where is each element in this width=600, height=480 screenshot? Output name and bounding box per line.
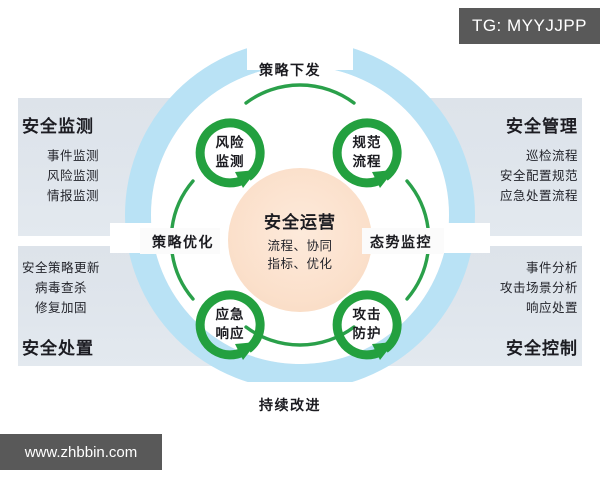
process-label-line-1: 攻击	[353, 306, 382, 325]
quadrant-item: 安全配置规范	[500, 166, 578, 186]
cardinal-label-bottom: 持续改进	[259, 395, 321, 415]
process-node-label: 攻击 防护	[324, 282, 410, 368]
cardinal-label-top: 策略下发	[259, 60, 321, 80]
center-subtitle-line-1: 流程、协同	[267, 237, 332, 255]
quadrant-item: 风险监测	[47, 166, 99, 186]
quadrant-title-security-control: 安全控制	[506, 334, 578, 359]
quadrant-items-security-control: 事件分析 攻击场景分析 响应处置	[500, 258, 578, 318]
quadrant-item: 事件分析	[500, 258, 578, 278]
process-label-line-1: 规范	[353, 134, 382, 153]
cardinal-label-right: 态势监控	[366, 230, 436, 254]
process-label-line-2: 监测	[216, 153, 245, 172]
process-label-line-2: 响应	[216, 325, 245, 344]
center-subtitle-line-2: 指标、优化	[267, 255, 332, 273]
quadrant-item: 病毒查杀	[22, 278, 100, 298]
quadrant-item: 应急处置流程	[500, 186, 578, 206]
quadrant-item: 安全策略更新	[22, 258, 100, 278]
quadrant-item: 修复加固	[22, 298, 100, 318]
diagram-canvas: 安全运营 流程、协同 指标、优化 风险 监测 规范 流程	[0, 0, 600, 480]
quadrant-item: 情报监测	[47, 186, 99, 206]
center-subtitle: 流程、协同 指标、优化	[267, 237, 332, 273]
center-title: 安全运营	[264, 208, 336, 233]
quadrant-title-security-monitoring: 安全监测	[22, 112, 94, 137]
watermark-telegram: TG: MYYJJPP	[459, 8, 600, 44]
process-label-line-2: 防护	[353, 325, 382, 344]
quadrant-items-security-management: 巡检流程 安全配置规范 应急处置流程	[500, 146, 578, 206]
quadrant-items-security-disposal: 安全策略更新 病毒查杀 修复加固	[22, 258, 100, 318]
process-node-emergency-response[interactable]: 应急 响应	[187, 282, 273, 368]
process-node-label: 应急 响应	[187, 282, 273, 368]
quadrant-item: 巡检流程	[500, 146, 578, 166]
process-node-risk-monitoring[interactable]: 风险 监测	[187, 110, 273, 196]
process-label-line-2: 流程	[353, 153, 382, 172]
process-label-line-1: 风险	[216, 134, 245, 153]
cardinal-label-left: 策略优化	[148, 230, 218, 254]
quadrant-title-security-management: 安全管理	[506, 112, 578, 137]
quadrant-items-security-monitoring: 事件监测 风险监测 情报监测	[47, 146, 99, 206]
process-label-line-1: 应急	[216, 306, 245, 325]
quadrant-title-security-disposal: 安全处置	[22, 334, 94, 359]
quadrant-item: 事件监测	[47, 146, 99, 166]
process-node-standard-process[interactable]: 规范 流程	[324, 110, 410, 196]
watermark-website: www.zhbbin.com	[0, 434, 162, 470]
process-node-label: 风险 监测	[187, 110, 273, 196]
quadrant-item: 响应处置	[500, 298, 578, 318]
quadrant-item: 攻击场景分析	[500, 278, 578, 298]
process-node-attack-protection[interactable]: 攻击 防护	[324, 282, 410, 368]
process-node-label: 规范 流程	[324, 110, 410, 196]
